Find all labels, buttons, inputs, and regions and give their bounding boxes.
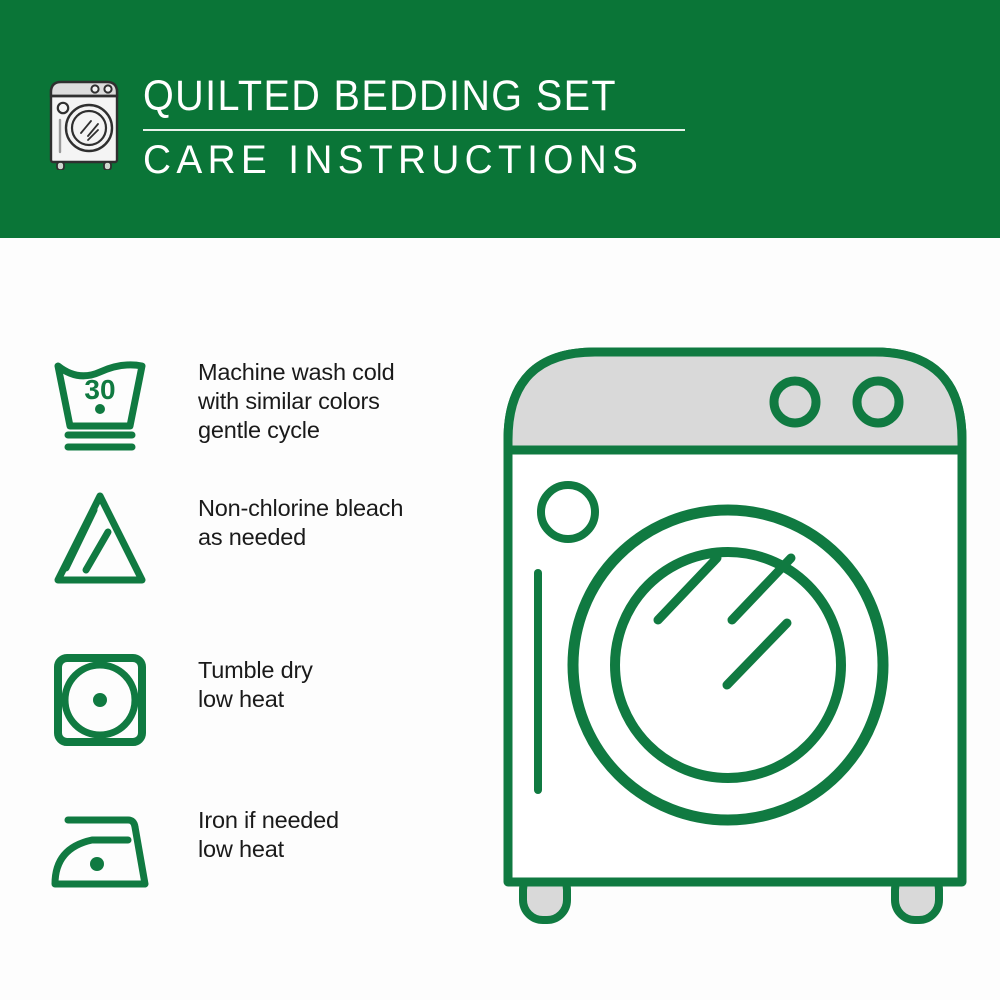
washing-machine-illustration bbox=[495, 330, 975, 930]
wash-temperature-label: 30 bbox=[84, 374, 115, 405]
wash-tub-icon: 30 bbox=[50, 352, 158, 452]
care-line: Non-chlorine bleach bbox=[198, 494, 403, 523]
care-line: gentle cycle bbox=[198, 416, 394, 445]
header-text-block: QUILTED BEDDING SET CARE INSTRUCTIONS bbox=[143, 72, 703, 183]
care-line: Machine wash cold bbox=[198, 358, 394, 387]
care-text-bleach: Non-chlorine bleach as needed bbox=[198, 488, 403, 552]
care-line: as needed bbox=[198, 523, 403, 552]
bleach-triangle-icon bbox=[50, 488, 158, 588]
care-row-wash: 30 Machine wash cold with similar colors… bbox=[50, 352, 480, 452]
care-line: low heat bbox=[198, 685, 313, 714]
care-line: with similar colors bbox=[198, 387, 394, 416]
tumble-dry-icon bbox=[50, 650, 158, 750]
machine-control-panel bbox=[512, 356, 958, 450]
care-line: Tumble dry bbox=[198, 656, 313, 685]
care-row-tumble-dry: Tumble dry low heat bbox=[50, 650, 480, 750]
care-line: low heat bbox=[198, 835, 339, 864]
iron-icon bbox=[50, 800, 158, 900]
care-text-wash: Machine wash cold with similar colors ge… bbox=[198, 352, 394, 445]
title-divider bbox=[143, 129, 685, 131]
header-band: QUILTED BEDDING SET CARE INSTRUCTIONS bbox=[0, 0, 1000, 238]
washing-machine-icon bbox=[44, 68, 130, 170]
care-row-iron: Iron if needed low heat bbox=[50, 800, 480, 900]
page-title: QUILTED BEDDING SET bbox=[143, 72, 658, 120]
care-line: Iron if needed bbox=[198, 806, 339, 835]
care-row-bleach: Non-chlorine bleach as needed bbox=[50, 488, 480, 588]
care-instructions-page: QUILTED BEDDING SET CARE INSTRUCTIONS 30… bbox=[0, 0, 1000, 1000]
care-text-tumble-dry: Tumble dry low heat bbox=[198, 650, 313, 714]
page-subtitle: CARE INSTRUCTIONS bbox=[143, 138, 686, 183]
care-text-iron: Iron if needed low heat bbox=[198, 800, 339, 864]
